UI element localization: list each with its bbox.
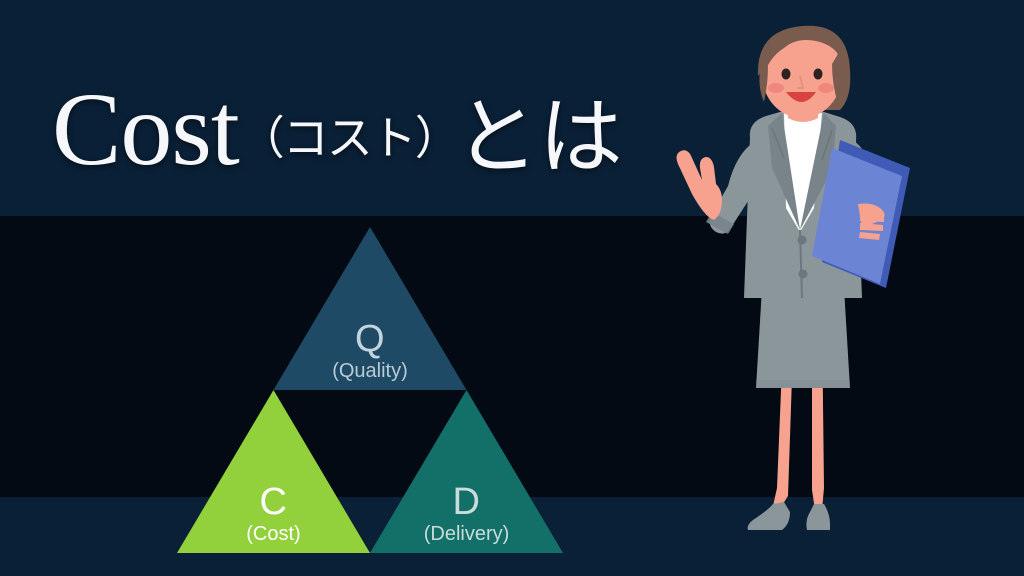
slide-canvas: Cost （コスト） とは Q (Quality) C (Cost) D (De… <box>0 0 1024 576</box>
shoe-right-shape <box>806 504 830 530</box>
cheek-right-shape <box>818 83 834 93</box>
pointing-hand-shape <box>677 150 722 220</box>
slide-title: Cost （コスト） とは <box>52 78 623 182</box>
triangle-segment-delivery[interactable]: D (Delivery) <box>370 390 563 553</box>
qcd-triangle-diagram: Q (Quality) C (Cost) D (Delivery) <box>177 227 563 553</box>
eye-left-shape <box>782 69 791 80</box>
skirt-hem-shape <box>756 380 850 388</box>
triangle-segment-quality[interactable]: Q (Quality) <box>274 227 467 390</box>
shoe-left-shape <box>748 502 790 530</box>
segment-label-quality: (Quality) <box>332 359 408 384</box>
eye-right-shape <box>814 69 823 80</box>
title-main-text: Cost <box>52 78 239 182</box>
segment-label-cost: (Cost) <box>246 522 300 547</box>
jacket-button-top <box>798 236 807 245</box>
title-suffix-text: とは <box>455 95 623 179</box>
skirt-shape <box>756 288 850 388</box>
segment-letter-cost: C <box>260 483 288 522</box>
jacket-button-bottom <box>799 270 808 279</box>
hair-side-left-shape <box>759 60 768 102</box>
segment-letter-quality: Q <box>355 320 385 359</box>
cheek-left-shape <box>768 83 784 93</box>
triangle-segment-cost[interactable]: C (Cost) <box>177 390 370 553</box>
segment-label-delivery: (Delivery) <box>424 522 510 547</box>
title-reading-text: （コスト） <box>239 115 459 161</box>
segment-letter-delivery: D <box>453 483 481 522</box>
businesswoman-illustration <box>672 18 932 576</box>
